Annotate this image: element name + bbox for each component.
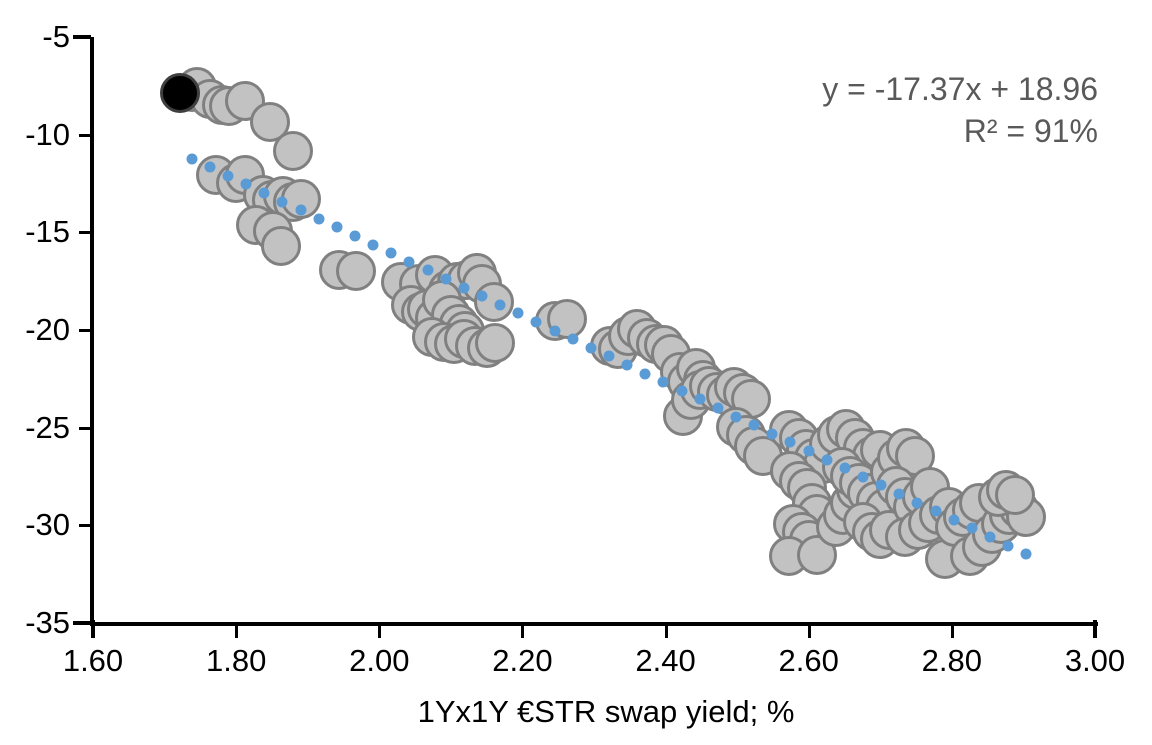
data-point [422, 280, 462, 320]
data-point [281, 179, 321, 219]
trendline-dot [204, 162, 215, 173]
data-point [273, 131, 313, 171]
y-axis-tick-label: -25 [25, 412, 70, 443]
trendline-dot [658, 377, 669, 388]
data-point [714, 367, 754, 407]
trendline-dot [894, 489, 905, 500]
data-point [779, 461, 819, 501]
trendline-dot [223, 170, 234, 181]
data-point [929, 487, 969, 527]
x-axis-tick-label: 2.80 [922, 645, 982, 676]
data-point [424, 322, 464, 362]
data-point [1006, 497, 1046, 537]
trendline-dot [694, 394, 705, 405]
data-point [847, 473, 887, 513]
data-point [797, 494, 837, 534]
data-point [209, 86, 249, 126]
trendline-dot [821, 454, 832, 465]
data-point [706, 375, 746, 415]
data-point [999, 489, 1039, 529]
data-point [261, 226, 301, 266]
data-point [598, 329, 638, 369]
data-point [399, 264, 439, 304]
data-point [253, 211, 293, 251]
data-point [910, 467, 950, 507]
trendline-dot [368, 239, 379, 250]
r-squared-label: R² = 91% [822, 110, 1098, 152]
y-axis-tick-label: -10 [25, 119, 70, 150]
x-axis-tick [808, 626, 811, 638]
x-axis-tick-label: 2.20 [492, 645, 552, 676]
data-point [455, 326, 495, 366]
data-point [769, 410, 809, 450]
data-point [680, 370, 720, 410]
data-point [839, 463, 879, 503]
trendline-dot [331, 222, 342, 233]
data-point [835, 418, 875, 458]
data-point [428, 270, 468, 310]
data-point [336, 251, 376, 291]
trendline-dot [295, 205, 306, 216]
data-point [860, 519, 900, 559]
data-point [243, 175, 283, 215]
data-point [716, 407, 756, 447]
trendline-dot [1021, 549, 1032, 560]
x-axis-tick [1093, 620, 1097, 638]
x-axis-tick [378, 626, 381, 638]
data-point [743, 436, 783, 476]
trendline-dot [876, 480, 887, 491]
trendline-dot [948, 514, 959, 525]
data-point [660, 352, 700, 392]
data-point [893, 487, 933, 527]
data-point [391, 285, 431, 325]
data-point [644, 325, 684, 365]
y-axis-tick [79, 329, 91, 332]
data-point [689, 366, 729, 406]
data-point [683, 360, 723, 400]
data-point [959, 483, 999, 523]
data-point [978, 477, 1018, 517]
data-point [407, 289, 447, 329]
data-point [823, 495, 863, 535]
x-axis-tick [951, 626, 954, 638]
data-point [908, 503, 948, 543]
trendline-dot [259, 188, 270, 199]
data-point [885, 517, 925, 557]
data-point [869, 510, 909, 550]
data-point [415, 298, 455, 338]
trendline-dot [549, 325, 560, 336]
y-axis-tick-label: -35 [25, 607, 70, 638]
data-point [852, 436, 892, 476]
trendline-dot [477, 291, 488, 302]
trendline-dot [731, 411, 742, 422]
scatter-chart: -5-10-15-20-25-30-35 1.601.802.002.202.4… [0, 0, 1152, 745]
data-point [792, 483, 832, 523]
data-point [723, 373, 763, 413]
data-point [935, 507, 975, 547]
data-point [895, 436, 935, 476]
data-point [817, 415, 857, 455]
data-point [981, 504, 1021, 544]
y-axis-tick [79, 524, 91, 527]
x-axis-tick [665, 626, 668, 638]
data-point [803, 444, 843, 484]
data-point [822, 447, 862, 487]
data-point [415, 255, 455, 295]
data-point [726, 415, 766, 455]
trendline-dot [513, 308, 524, 319]
data-point [836, 470, 876, 510]
trendline-dot [985, 532, 996, 543]
data-point [401, 292, 441, 332]
data-point [651, 334, 691, 374]
trendline-dot [386, 248, 397, 259]
trendline-dot [404, 256, 415, 267]
data-point [902, 477, 942, 517]
data-point [663, 396, 703, 436]
data-point [770, 451, 810, 491]
data-point [925, 539, 965, 579]
data-point [381, 262, 421, 302]
trendline-dot [440, 274, 451, 285]
data-point [535, 301, 575, 341]
trendline-dot [495, 299, 506, 310]
data-point [852, 512, 892, 552]
data-point [769, 536, 809, 576]
x-axis-tick-label: 2.60 [779, 645, 839, 676]
data-point [919, 495, 959, 535]
data-point [263, 176, 303, 216]
data-point [627, 318, 667, 358]
data-point [434, 324, 474, 364]
y-axis-tick-label: -15 [25, 216, 70, 247]
data-point [319, 250, 359, 290]
data-point [787, 468, 827, 508]
data-point [986, 470, 1026, 510]
trendline-dot [767, 428, 778, 439]
trendline-dot [241, 179, 252, 190]
trendline-dot [1003, 540, 1014, 551]
data-point [773, 504, 813, 544]
trendline-dot [422, 265, 433, 276]
x-axis-tick-label: 2.00 [349, 645, 409, 676]
trendline-dot [839, 463, 850, 474]
data-point [731, 379, 771, 419]
trendline-dot [966, 523, 977, 534]
trendline-dot [640, 368, 651, 379]
data-point [865, 488, 905, 528]
trendline-dot [531, 317, 542, 328]
data-point [447, 260, 487, 300]
data-point [816, 507, 856, 547]
data-point [177, 67, 217, 107]
trendline-dot [313, 213, 324, 224]
data-point [950, 536, 990, 576]
y-axis-tick [79, 427, 91, 430]
trendline-dot [604, 351, 615, 362]
y-axis-tick [73, 621, 91, 625]
data-point [995, 475, 1035, 515]
y-axis-tick-label: -20 [25, 314, 70, 345]
trendline-dot [803, 446, 814, 457]
data-point [617, 309, 657, 349]
x-axis-tick-label: 3.00 [1065, 645, 1125, 676]
data-point [877, 438, 917, 478]
trendline-dot [676, 385, 687, 396]
trendline-dot [930, 506, 941, 517]
x-axis-tick-label: 1.80 [206, 645, 266, 676]
data-point [885, 477, 925, 517]
data-point [457, 253, 497, 293]
trendline-dot [567, 334, 578, 345]
data-point [437, 262, 477, 302]
trendline-dot [350, 231, 361, 242]
data-point [943, 497, 983, 537]
trendline-dot [458, 282, 469, 293]
regression-equation: y = -17.37x + 18.96 [822, 68, 1098, 110]
x-axis-tick-label: 1.60 [63, 645, 123, 676]
data-point [236, 205, 276, 245]
data-point [782, 512, 822, 552]
data-point [445, 311, 485, 351]
data-point [972, 514, 1012, 554]
data-point [797, 535, 837, 575]
data-point [250, 102, 290, 142]
data-point [190, 79, 230, 119]
y-axis-tick [73, 35, 91, 39]
trendline-dot [712, 403, 723, 414]
data-point [467, 328, 507, 368]
data-point [870, 452, 910, 492]
x-axis-tick [235, 626, 238, 638]
x-axis-tick [91, 620, 95, 638]
x-axis-tick-label: 2.40 [635, 645, 695, 676]
data-point [547, 299, 587, 339]
y-axis-tick [79, 231, 91, 234]
x-axis-tick [521, 626, 524, 638]
data-point [898, 510, 938, 550]
data-point [789, 520, 829, 560]
data-point [412, 317, 452, 357]
data-point [876, 466, 916, 506]
data-point [225, 155, 265, 195]
data-point [989, 495, 1029, 535]
data-point [196, 155, 236, 195]
trendline-dot [277, 196, 288, 207]
data-point [856, 481, 896, 521]
data-point-highlighted [160, 73, 200, 113]
data-point [843, 428, 883, 468]
data-point [273, 182, 313, 222]
x-axis-line [90, 622, 1098, 626]
data-point [779, 418, 819, 458]
data-point [786, 429, 826, 469]
data-point [590, 326, 630, 366]
data-point [860, 430, 900, 470]
data-point [830, 456, 870, 496]
data-point [826, 409, 866, 449]
data-point [952, 490, 992, 530]
data-point [462, 264, 502, 304]
trendline-dot [858, 471, 869, 482]
data-point [475, 323, 515, 363]
trendline-dot [912, 497, 923, 508]
y-axis-tick-label: -5 [42, 21, 70, 52]
trendline-dot [749, 420, 760, 431]
data-point [809, 424, 849, 464]
data-point [676, 348, 716, 388]
data-point [444, 319, 484, 359]
data-point [252, 180, 292, 220]
data-point [886, 428, 926, 468]
data-point [734, 426, 774, 466]
data-point [671, 380, 711, 420]
regression-annotation: y = -17.37x + 18.96 R² = 91% [822, 68, 1098, 152]
data-point [636, 324, 676, 364]
data-point [667, 362, 707, 402]
data-point [439, 304, 479, 344]
data-point [172, 72, 212, 112]
data-point [843, 502, 883, 542]
trendline-dot [785, 437, 796, 448]
data-point [431, 295, 471, 335]
x-axis-title: 1Yx1Y €STR swap yield; % [0, 694, 1152, 730]
trendline-dot [622, 360, 633, 371]
y-axis-tick-label: -30 [25, 509, 70, 540]
data-point [474, 282, 514, 322]
data-point [608, 316, 648, 356]
data-point [830, 483, 870, 523]
data-point [202, 85, 242, 125]
trendline-dot [585, 342, 596, 353]
data-point [962, 527, 1002, 567]
trendline-dot [186, 153, 197, 164]
data-point [794, 438, 834, 478]
y-axis-tick [79, 134, 91, 137]
data-point [697, 372, 737, 412]
data-point [216, 163, 256, 203]
data-point [225, 81, 265, 121]
